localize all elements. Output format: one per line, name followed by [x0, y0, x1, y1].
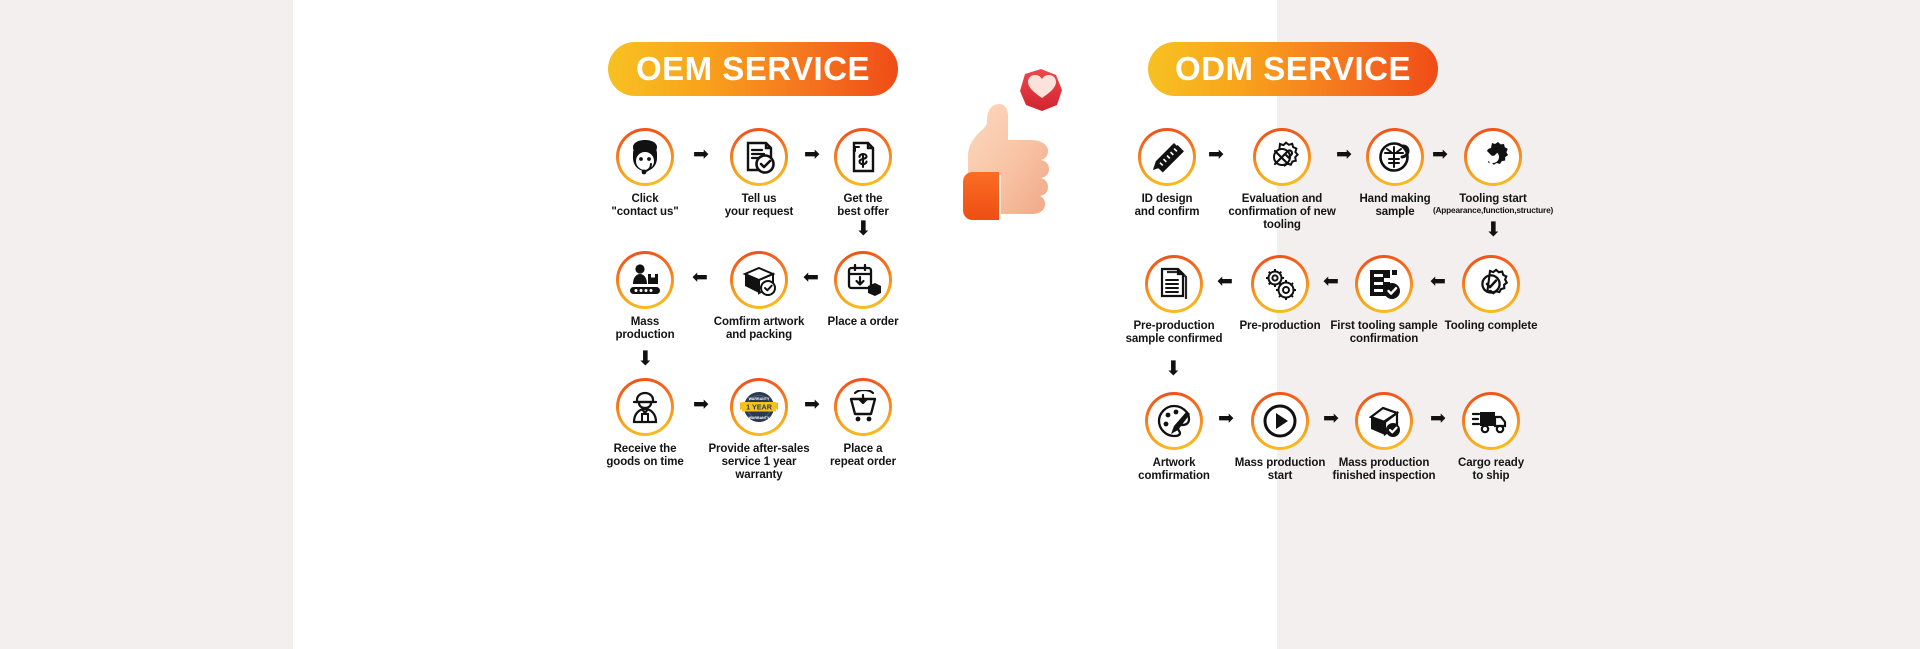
oem-step-confirm-artwork-and-packing[interactable]: Comfirm artwork and packing — [699, 251, 819, 342]
step-label: Receive the goods on time — [606, 443, 683, 469]
step-label: Mass production finished inspection — [1333, 457, 1436, 483]
step-label: Tooling complete — [1445, 320, 1538, 333]
oem-step-place-a-repeat-order[interactable]: Place a repeat order — [803, 378, 923, 469]
oem-banner-text: OEM SERVICE — [636, 50, 870, 88]
step-ring — [1355, 392, 1413, 450]
step-label: Evaluation and confirmation of new tooli… — [1222, 193, 1342, 232]
arrow-down-connector: ⬇ — [855, 218, 872, 238]
step-label: Artwork comfirmation — [1138, 457, 1210, 483]
hand-sample-icon — [1376, 139, 1414, 175]
infographic-root: OEM SERVICE ODM SERVICE — [0, 0, 1920, 649]
odm-service-banner: ODM SERVICE — [1148, 42, 1438, 96]
thumbs-up-illustration — [933, 60, 1083, 220]
step-label: Tooling start — [1459, 193, 1526, 206]
arrow-down-connector: ⬇ — [1485, 219, 1502, 239]
oem-step-tell-us-your-request[interactable]: Tell us your request — [699, 128, 819, 219]
step-label: Click "contact us" — [611, 193, 678, 219]
step-label: Pre-production sample confirmed — [1126, 320, 1223, 346]
package-inspection-check-icon — [1365, 403, 1403, 439]
step-label: Tell us your request — [725, 193, 793, 219]
oem-step-receive-the-goods-on-time[interactable]: Receive the goods on time — [585, 378, 705, 469]
step-sublabel: (Appearance,function,structure) — [1408, 206, 1578, 215]
step-ring — [1462, 392, 1520, 450]
delivery-worker-icon — [627, 389, 663, 425]
arrow-down-connector: ⬇ — [637, 348, 654, 368]
step-ring — [834, 378, 892, 436]
gears-production-icon — [1262, 266, 1298, 302]
odm-step-id-design-and-confirm[interactable]: ID design and confirm — [1107, 128, 1227, 219]
step-ring — [616, 251, 674, 309]
step-ring — [616, 128, 674, 186]
oem-step-get-the-best-offer[interactable]: Get the best offer — [803, 128, 923, 219]
step-ring: WARRANTY WARRANTY 1 YEAR — [730, 378, 788, 436]
price-quote-dollar-icon — [846, 140, 880, 174]
odm-step-mass-production-start[interactable]: Mass production start — [1220, 392, 1340, 483]
gear-tools-evaluation-icon — [1264, 139, 1300, 175]
odm-step-pre-production-sample-confirmed[interactable]: Pre-production sample confirmed — [1114, 255, 1234, 346]
customer-service-agent-icon — [626, 138, 664, 176]
step-ring — [1464, 128, 1522, 186]
factory-assembly-line-icon — [626, 261, 664, 299]
delivery-truck-icon — [1472, 405, 1510, 437]
step-label: First tooling sample confirmation — [1330, 320, 1437, 346]
odm-step-cargo-ready-to-ship[interactable]: Cargo ready to ship — [1431, 392, 1551, 483]
pencil-ruler-design-icon — [1149, 139, 1185, 175]
oem-step-after-sales-warranty[interactable]: WARRANTY WARRANTY 1 YEAR Provide after-s… — [699, 378, 819, 482]
artwork-palette-brush-icon — [1156, 403, 1192, 439]
odm-step-tooling-start[interactable]: Tooling start (Appearance,function,struc… — [1433, 128, 1553, 215]
step-ring — [616, 378, 674, 436]
step-ring — [1138, 128, 1196, 186]
odm-banner-text: ODM SERVICE — [1175, 50, 1411, 88]
odm-step-tooling-complete[interactable]: Tooling complete — [1431, 255, 1551, 333]
calendar-order-icon — [845, 262, 881, 298]
step-label: Cargo ready to ship — [1458, 457, 1524, 483]
step-label: Place a order — [828, 316, 899, 329]
step-ring — [1251, 392, 1309, 450]
heart-badge-icon — [1020, 69, 1062, 111]
step-ring — [1145, 255, 1203, 313]
step-label: Pre-production — [1239, 320, 1320, 333]
step-label: Mass production — [615, 316, 674, 342]
oem-step-click-contact-us[interactable]: Click "contact us" — [585, 128, 705, 219]
open-box-check-icon — [740, 262, 778, 298]
arrow-down-connector: ⬇ — [1165, 358, 1182, 378]
step-ring — [730, 128, 788, 186]
step-label: Place a repeat order — [830, 443, 896, 469]
step-ring — [1253, 128, 1311, 186]
step-ring — [1462, 255, 1520, 313]
oem-service-banner: OEM SERVICE — [608, 42, 898, 96]
step-label: Mass production start — [1235, 457, 1326, 483]
gear-check-complete-icon — [1473, 266, 1509, 302]
documents-stack-icon — [1157, 266, 1191, 302]
step-label: Comfirm artwork and packing — [714, 316, 805, 342]
hand-shape — [963, 104, 1049, 220]
step-ring — [1355, 255, 1413, 313]
svg-text:WARRANTY: WARRANTY — [749, 416, 770, 420]
step-label: Provide after-sales service 1 year warra… — [699, 443, 819, 482]
svg-text:WARRANTY: WARRANTY — [749, 397, 770, 401]
step-ring — [730, 251, 788, 309]
step-label: Get the best offer — [837, 193, 888, 219]
step-ring — [1366, 128, 1424, 186]
odm-step-first-tooling-sample-confirmation[interactable]: First tooling sample confirmation — [1324, 255, 1444, 346]
step-label: ID design and confirm — [1135, 193, 1200, 219]
step-ring — [834, 251, 892, 309]
thumbs-up-icon — [933, 60, 1083, 220]
tooling-sample-check-icon — [1366, 267, 1402, 301]
tooling-wrench-gear-icon — [1475, 139, 1511, 175]
document-checklist-icon — [741, 139, 777, 175]
shopping-cart-repeat-icon — [845, 390, 881, 424]
white-canvas: OEM SERVICE ODM SERVICE — [293, 0, 1277, 649]
step-ring — [834, 128, 892, 186]
warranty-badge-1-year-icon: WARRANTY WARRANTY 1 YEAR — [739, 389, 779, 425]
oem-step-mass-production[interactable]: Mass production — [585, 251, 705, 342]
odm-step-mass-production-finished-inspection[interactable]: Mass production finished inspection — [1324, 392, 1444, 483]
odm-step-evaluation-confirmation-new-tooling[interactable]: Evaluation and confirmation of new tooli… — [1222, 128, 1342, 232]
play-start-icon — [1262, 403, 1298, 439]
odm-step-artwork-confirmation[interactable]: Artwork comfirmation — [1114, 392, 1234, 483]
step-ring — [1145, 392, 1203, 450]
odm-step-pre-production[interactable]: Pre-production — [1220, 255, 1340, 333]
step-ring — [1251, 255, 1309, 313]
svg-text:1 YEAR: 1 YEAR — [746, 403, 773, 412]
oem-step-place-a-order[interactable]: Place a order — [803, 251, 923, 329]
